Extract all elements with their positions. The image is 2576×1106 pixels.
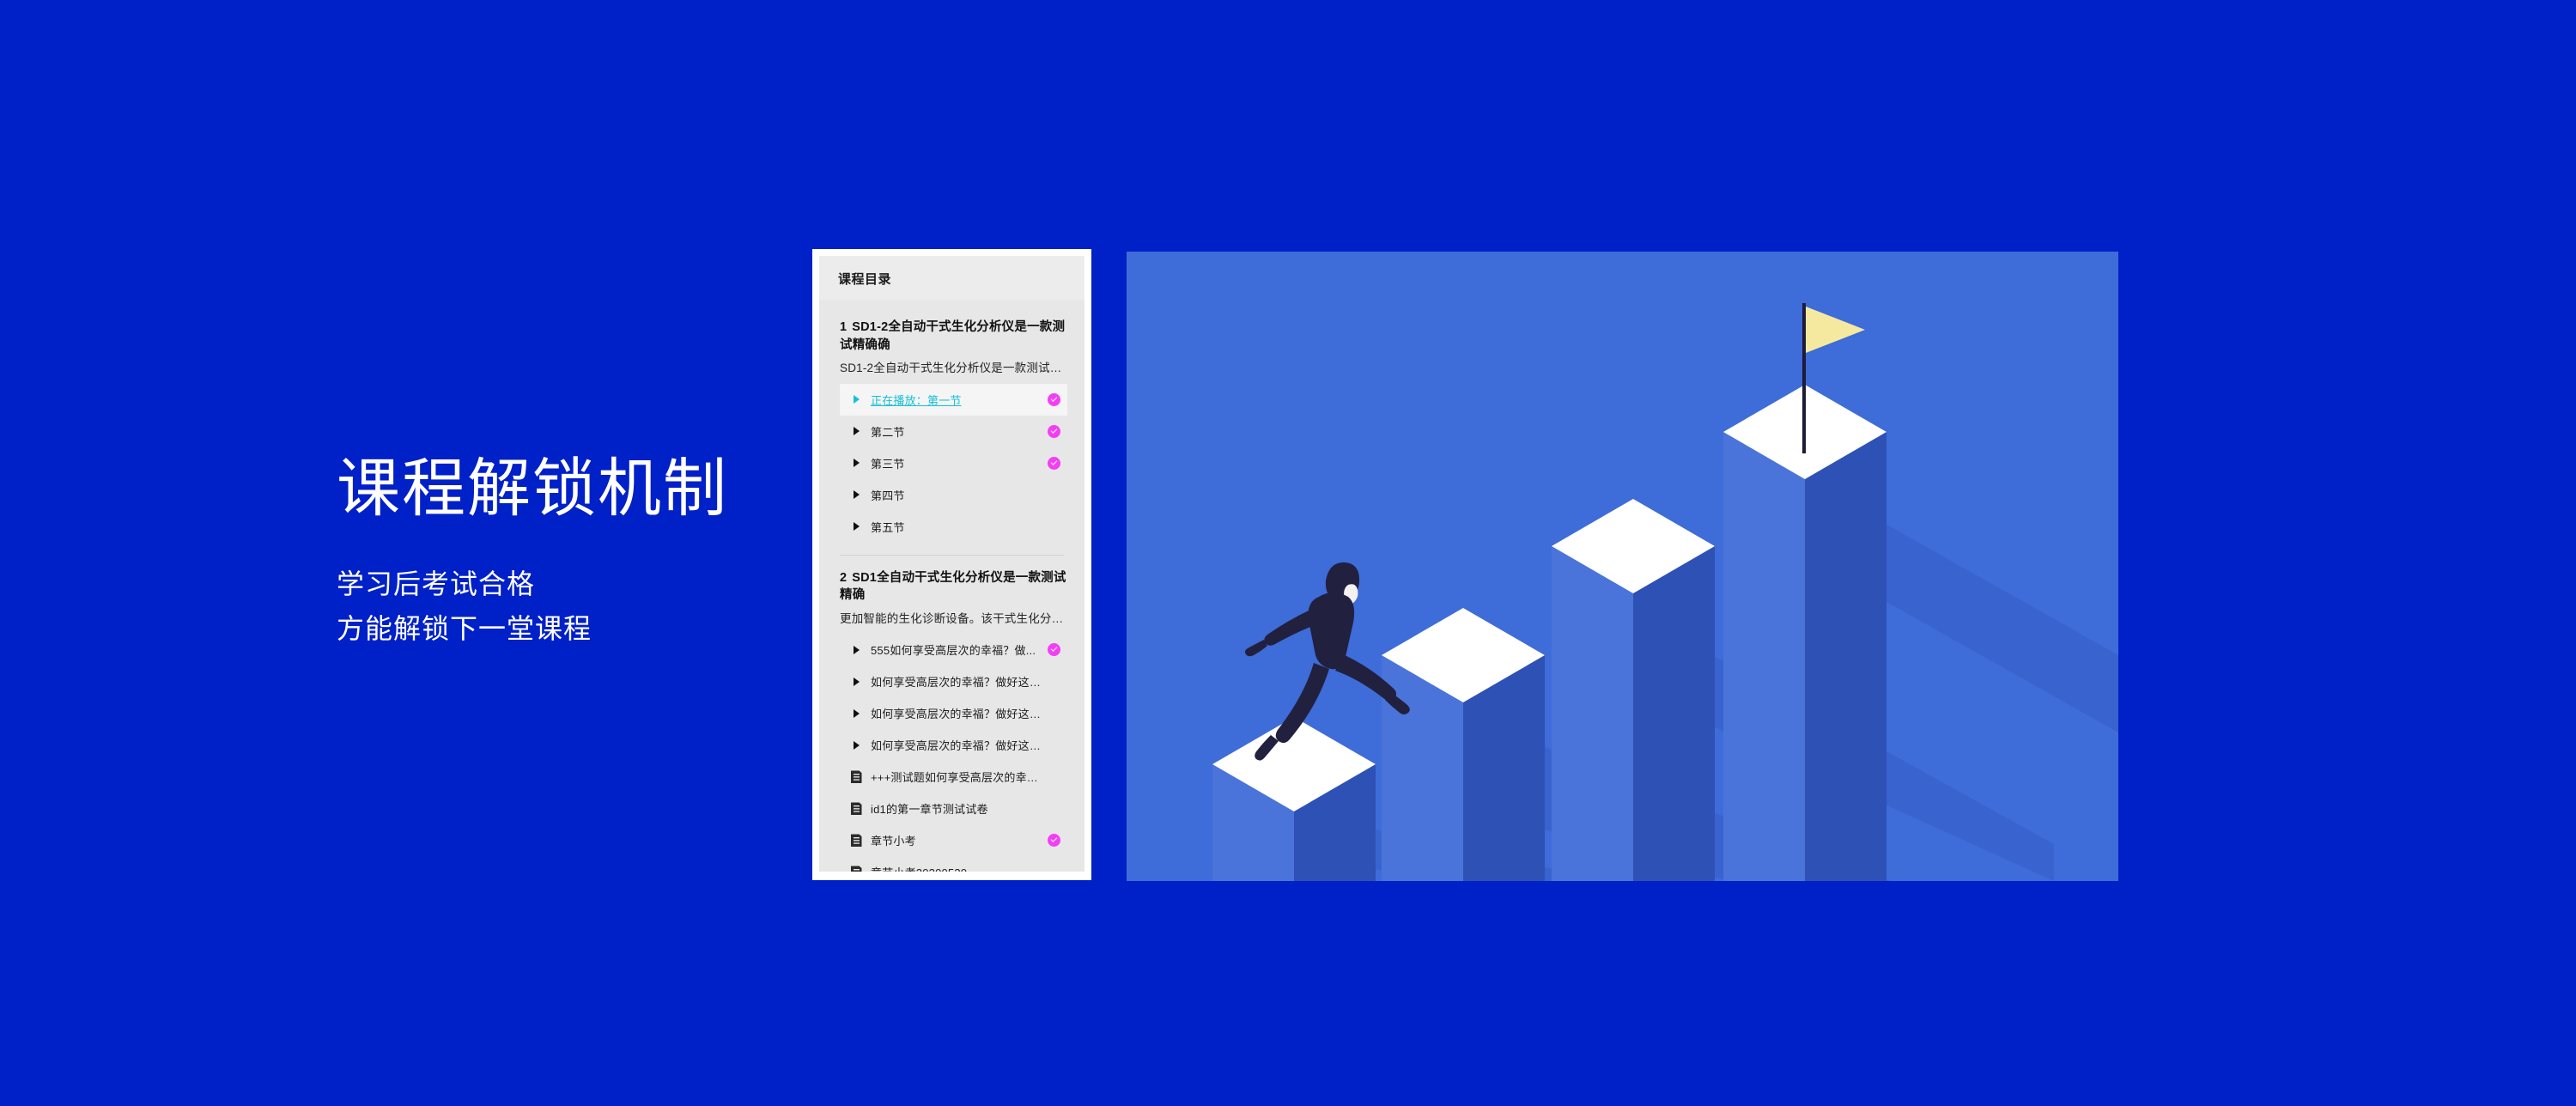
lesson-label: 第四节	[871, 487, 1047, 503]
list-item[interactable]: 第二节	[840, 416, 1067, 447]
headline-block: 课程解锁机制 学习后考试合格 方能解锁下一堂课程	[337, 453, 800, 652]
play-triangle-icon	[850, 678, 862, 686]
step-block-4	[1723, 385, 1886, 881]
lesson-label: 如何享受高层次的幸福？做好这两...	[871, 705, 1047, 721]
list-item[interactable]: id1的第一章节测试试卷	[840, 793, 1067, 824]
chapter-description: SD1-2全自动干式生化分析仪是一款测试精确	[840, 360, 1067, 377]
lesson-label: 第三节	[871, 455, 1047, 471]
completed-check-icon	[1048, 393, 1060, 406]
list-item[interactable]: 555如何享受高层次的幸福？做...	[840, 634, 1067, 665]
chapter-block: 2SD1全自动干式生化分析仪是一款测试精确 更加智能的生化诊断设备。该干式生化分…	[819, 556, 1084, 872]
chapter-description: 更加智能的生化诊断设备。该干式生化分析仪...	[840, 611, 1067, 628]
list-item[interactable]: 如何享受高层次的幸福？做好这两...	[840, 665, 1067, 697]
completed-check-icon	[1048, 457, 1060, 470]
lesson-label: 章节小考20200530	[871, 864, 1047, 872]
goal-steps-illustration	[1127, 252, 2118, 881]
completed-check-icon	[1048, 643, 1060, 656]
play-triangle-icon	[850, 741, 862, 750]
play-triangle-icon	[850, 646, 862, 654]
lesson-label: 如何享受高层次的幸福？做好这两...	[871, 737, 1047, 753]
lesson-label: 章节小考	[871, 832, 1047, 848]
list-item[interactable]: 如何享受高层次的幸福？做好这两...	[840, 697, 1067, 729]
chapter-title: 1SD1-2全自动干式生化分析仪是一款测试精确确	[840, 319, 1067, 354]
list-item[interactable]: 如何享受高层次的幸福？做好这两...	[840, 729, 1067, 761]
lesson-label: 555如何享受高层次的幸福？做...	[871, 641, 1047, 658]
subtitle-line-1: 学习后考试合格	[337, 562, 800, 607]
lesson-label: 第五节	[871, 519, 1047, 535]
list-item[interactable]: 章节小考	[840, 824, 1067, 856]
chapter-number: 2	[840, 571, 847, 585]
lesson-list: 555如何享受高层次的幸福？做... 如何享受高层次的幸福？做好这两... 如何…	[840, 634, 1067, 872]
page-subtitle: 学习后考试合格 方能解锁下一堂课程	[337, 562, 800, 652]
chapter-title: 2SD1全自动干式生化分析仪是一款测试精确	[840, 569, 1067, 605]
course-outline-panel: 课程目录 1SD1-2全自动干式生化分析仪是一款测试精确确 SD1-2全自动干式…	[812, 249, 1091, 880]
play-triangle-icon	[850, 459, 862, 467]
list-item[interactable]: 第五节	[840, 511, 1067, 543]
list-item[interactable]: 正在播放：第一节	[840, 384, 1067, 416]
course-outline-body: 课程目录 1SD1-2全自动干式生化分析仪是一款测试精确确 SD1-2全自动干式…	[819, 256, 1084, 872]
play-triangle-icon	[850, 490, 862, 499]
lesson-label: 第二节	[871, 423, 1047, 440]
chapter-block: 1SD1-2全自动干式生化分析仪是一款测试精确确 SD1-2全自动干式生化分析仪…	[819, 300, 1084, 543]
play-triangle-icon	[850, 427, 862, 435]
panel-title: 课程目录	[838, 272, 891, 287]
lesson-list: 正在播放：第一节 第二节 第三节 第四节	[840, 384, 1067, 543]
play-triangle-icon	[850, 395, 862, 404]
step-block-2	[1382, 608, 1545, 881]
chapter-title-text: SD1全自动干式生化分析仪是一款测试精确	[840, 571, 1066, 603]
document-icon	[850, 866, 862, 872]
play-triangle-icon	[850, 709, 862, 718]
illustration-svg	[1127, 252, 2118, 881]
step-block-3	[1552, 499, 1715, 881]
lesson-label: 如何享受高层次的幸福？做好这两...	[871, 673, 1047, 690]
lesson-label: 正在播放：第一节	[871, 392, 1047, 408]
list-item[interactable]: 第三节	[840, 447, 1067, 479]
panel-header: 课程目录	[819, 256, 1084, 300]
list-item[interactable]: 第四节	[840, 479, 1067, 511]
play-triangle-icon	[850, 522, 862, 531]
page-title: 课程解锁机制	[337, 453, 800, 525]
document-icon	[850, 834, 862, 847]
lesson-label: id1的第一章节测试试卷	[871, 800, 1047, 817]
completed-check-icon	[1048, 425, 1060, 438]
document-icon	[850, 802, 862, 815]
list-item[interactable]: 章节小考20200530	[840, 856, 1067, 872]
subtitle-line-2: 方能解锁下一堂课程	[337, 607, 800, 652]
document-icon	[850, 770, 862, 783]
chapter-number: 1	[840, 320, 847, 334]
completed-check-icon	[1048, 834, 1060, 847]
chapter-title-text: SD1-2全自动干式生化分析仪是一款测试精确确	[840, 320, 1065, 352]
list-item[interactable]: +++测试题如何享受高层次的幸福...	[840, 761, 1067, 793]
lesson-label: +++测试题如何享受高层次的幸福...	[871, 769, 1047, 785]
